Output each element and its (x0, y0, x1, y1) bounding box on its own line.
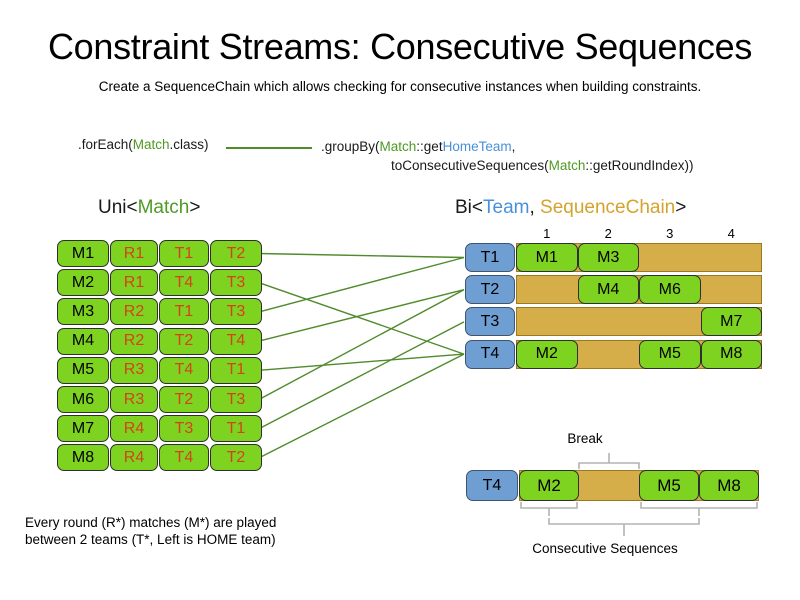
break-diagram-slot: M5 (639, 470, 699, 501)
uni-cell-home: T1 (159, 240, 209, 267)
uni-cell-match: M7 (57, 415, 109, 442)
uni-cell-round: R1 (110, 240, 158, 267)
uni-cell-round: R4 (110, 444, 158, 471)
break-diagram-slot: M2 (519, 470, 579, 501)
legend-note: Every round (R*) matches (M*) are played… (25, 514, 276, 548)
bi-cell-match: M7 (701, 307, 763, 336)
bi-cell-team: T2 (465, 275, 515, 304)
uni-cell-away: T2 (210, 444, 262, 471)
uni-cell-match: M8 (57, 444, 109, 471)
uni-cell-home: T4 (159, 357, 209, 384)
uni-cell-match: M6 (57, 386, 109, 413)
bi-cell-team: T4 (465, 340, 515, 369)
uni-cell-home: T1 (159, 298, 209, 325)
bi-column-number: 1 (532, 226, 562, 241)
uni-cell-match: M4 (57, 328, 109, 355)
uni-cell-away: T1 (210, 415, 262, 442)
uni-cell-away: T2 (210, 240, 262, 267)
uni-cell-match: M2 (57, 269, 109, 296)
uni-cell-away: T3 (210, 386, 262, 413)
legend-line-1: Every round (R*) matches (M*) are played (25, 515, 276, 530)
uni-cell-away: T1 (210, 357, 262, 384)
uni-cell-match: M5 (57, 357, 109, 384)
break-diagram-team: T4 (466, 470, 518, 501)
uni-cell-round: R2 (110, 298, 158, 325)
bi-cell-team: T1 (465, 243, 515, 272)
uni-cell-home: T3 (159, 415, 209, 442)
uni-cell-round: R3 (110, 357, 158, 384)
uni-cell-match: M3 (57, 298, 109, 325)
uni-cell-home: T2 (159, 386, 209, 413)
uni-cell-home: T4 (159, 444, 209, 471)
bi-column-number: 4 (716, 226, 746, 241)
bi-cell-match: M5 (639, 340, 701, 369)
bi-cell-match: M6 (639, 275, 701, 304)
bi-cell-match: M3 (578, 243, 640, 272)
uni-cell-round: R4 (110, 415, 158, 442)
bi-cell-match: M8 (701, 340, 763, 369)
consecutive-sequences-label: Consecutive Sequences (480, 541, 730, 556)
break-diagram-slot: M8 (699, 470, 759, 501)
uni-cell-away: T4 (210, 328, 262, 355)
uni-cell-round: R1 (110, 269, 158, 296)
uni-cell-round: R2 (110, 328, 158, 355)
uni-cell-away: T3 (210, 269, 262, 296)
uni-cell-home: T4 (159, 269, 209, 296)
bi-cell-match: M1 (516, 243, 578, 272)
legend-line-2: between 2 teams (T*, Left is HOME team) (25, 532, 276, 547)
bi-cell-team: T3 (465, 307, 515, 336)
uni-cell-round: R3 (110, 386, 158, 413)
uni-cell-away: T3 (210, 298, 262, 325)
bi-column-number: 2 (593, 226, 623, 241)
break-label: Break (540, 431, 630, 446)
bi-column-number: 3 (655, 226, 685, 241)
bi-cell-match: M2 (516, 340, 578, 369)
bi-cell-match: M4 (578, 275, 640, 304)
uni-cell-home: T2 (159, 328, 209, 355)
uni-cell-match: M1 (57, 240, 109, 267)
